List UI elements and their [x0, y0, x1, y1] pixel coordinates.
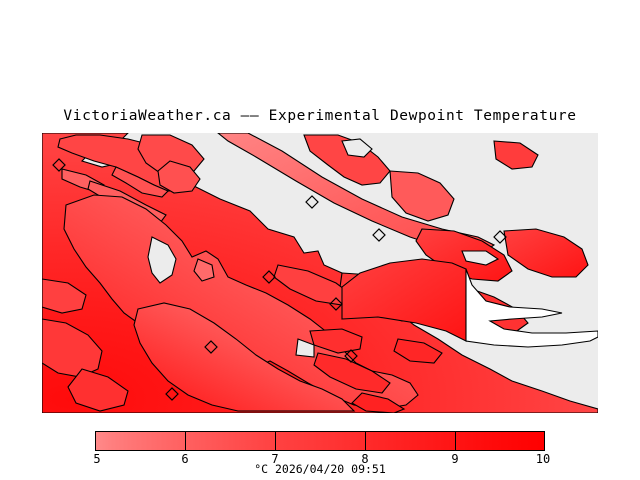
weather-map[interactable] [42, 133, 598, 413]
colorbar-tick-line [455, 431, 456, 451]
colorbar[interactable]: 5 6 7 8 9 10 [95, 431, 545, 451]
colorbar-tick-line [185, 431, 186, 451]
map-canvas [42, 133, 598, 413]
colorbar-caption: °C 2026/04/20 09:51 [0, 462, 640, 476]
colorbar-tick-line [275, 431, 276, 451]
colorbar-tick-line [365, 431, 366, 451]
colorbar-gradient[interactable] [95, 431, 545, 451]
page-title: VictoriaWeather.ca —— Experimental Dewpo… [0, 108, 640, 124]
